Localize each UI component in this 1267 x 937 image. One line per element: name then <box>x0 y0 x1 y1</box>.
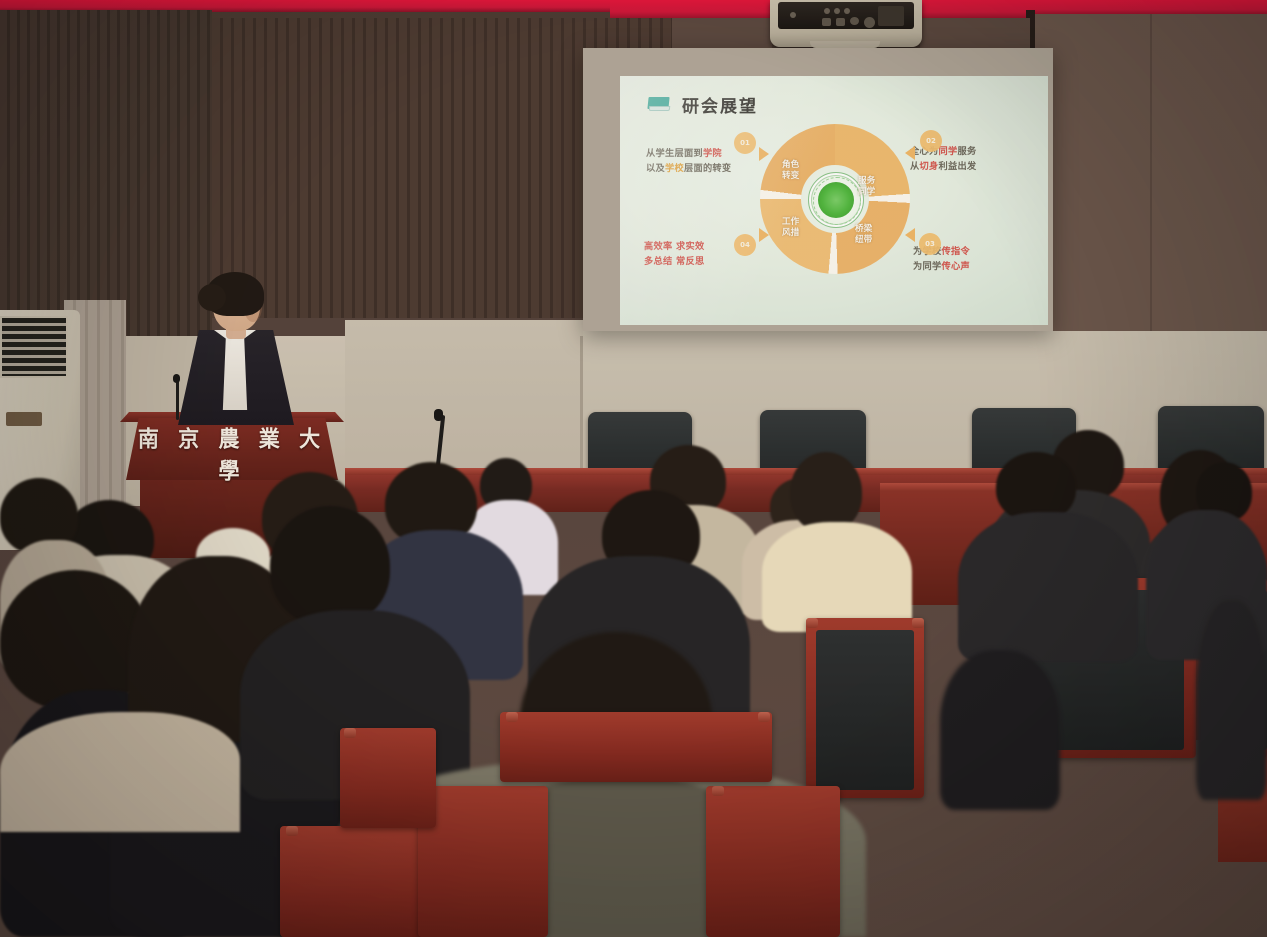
microphone-left-head <box>173 374 180 383</box>
audience-arm-left <box>0 712 240 832</box>
seat-back-f2 <box>418 786 548 937</box>
audience-head-n9 <box>270 506 390 626</box>
speaker-hair-bun <box>198 284 226 311</box>
microphone-floor-head <box>434 409 443 421</box>
audience-body-r1 <box>958 512 1138 662</box>
screen-glare <box>620 76 1048 325</box>
wall-seam-under-screen <box>580 336 583 486</box>
seat-knob-c1a <box>806 618 818 628</box>
seat-back-f4 <box>340 728 436 828</box>
seat-back-f5 <box>500 712 772 782</box>
seat-knob-f5b <box>758 712 770 722</box>
seat-pad-c1 <box>816 630 914 790</box>
microphone-left-stem <box>176 380 179 420</box>
audience-body-r3 <box>940 650 1060 810</box>
audience-body-r4 <box>1196 600 1267 800</box>
seat-knob-f5a <box>506 712 518 722</box>
audience-body-m4 <box>762 522 912 632</box>
seat-back-f3 <box>706 786 840 937</box>
projector-lens-block <box>778 2 914 29</box>
seat-back-f1 <box>280 826 440 937</box>
wall-panel-ribbed-left <box>0 10 212 340</box>
wall-seam-right <box>1150 14 1152 344</box>
air-conditioner-vent <box>0 316 68 378</box>
projection-screen: 研会展望 从学生层面到学院 以及学校层面的转变 全心为同学服务 从切身利益出发 … <box>620 76 1048 325</box>
projector-foot <box>810 41 880 48</box>
ceiling-projector <box>770 0 922 47</box>
seat-knob-f3 <box>712 786 724 796</box>
air-conditioner-badge <box>6 412 42 426</box>
seat-knob-f1 <box>286 826 298 836</box>
audience-head-m4 <box>790 452 862 532</box>
seat-knob-c1b <box>912 618 924 628</box>
seat-knob-f4 <box>344 728 356 738</box>
lecture-hall-photo: 研会展望 从学生层面到学院 以及学校层面的转变 全心为同学服务 从切身利益出发 … <box>0 0 1267 937</box>
